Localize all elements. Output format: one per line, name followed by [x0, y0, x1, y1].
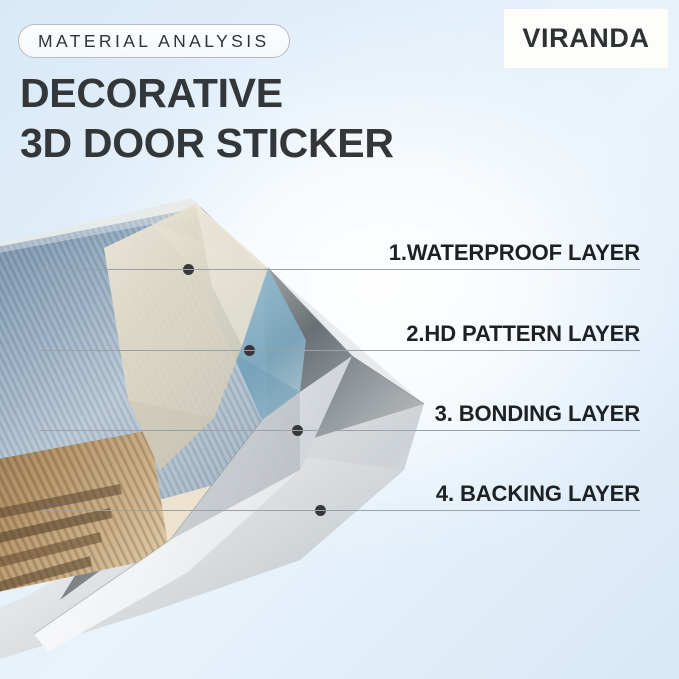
- callout-label-waterproof: 1.WATERPROOF LAYER: [40, 240, 640, 269]
- callout-label-hd-pattern: 2.HD PATTERN LAYER: [40, 321, 640, 350]
- callout-backing: 4. BACKING LAYER: [40, 481, 640, 511]
- callout-rule-backing: [40, 510, 640, 511]
- page-title: DECORATIVE 3D DOOR STICKER: [20, 68, 394, 168]
- infographic-canvas: MATERIAL ANALYSIS DECORATIVE 3D DOOR STI…: [0, 0, 679, 679]
- page-title-line-2: 3D DOOR STICKER: [20, 118, 394, 168]
- callout-bonding: 3. BONDING LAYER: [40, 401, 640, 431]
- callout-label-backing: 4. BACKING LAYER: [40, 481, 640, 510]
- brand-logo-box: VIRANDA: [504, 9, 668, 68]
- callout-rule-hd-pattern: [40, 350, 640, 351]
- callout-rule-bonding: [40, 430, 640, 431]
- callout-hd-pattern: 2.HD PATTERN LAYER: [40, 321, 640, 351]
- page-title-line-1: DECORATIVE: [20, 68, 394, 118]
- callout-rule-waterproof: [40, 269, 640, 270]
- eyebrow-badge: MATERIAL ANALYSIS: [18, 24, 290, 58]
- brand-name: VIRANDA: [522, 23, 649, 54]
- callout-label-bonding: 3. BONDING LAYER: [40, 401, 640, 430]
- eyebrow-label: MATERIAL ANALYSIS: [38, 31, 270, 52]
- callout-waterproof: 1.WATERPROOF LAYER: [40, 240, 640, 270]
